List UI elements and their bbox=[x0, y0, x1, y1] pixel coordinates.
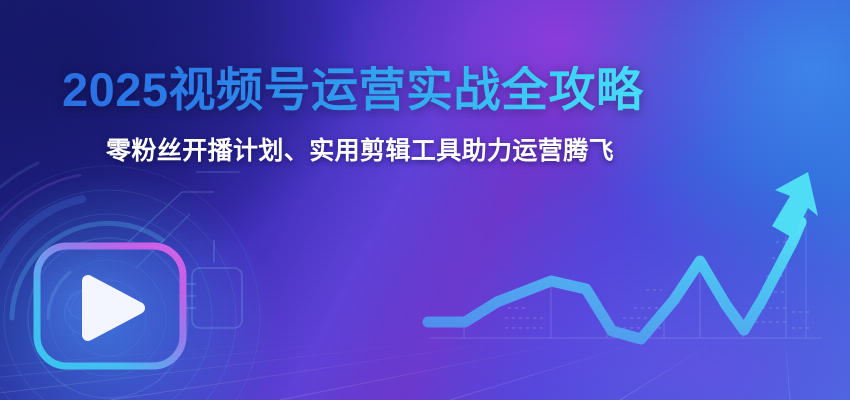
text-block: 2025视频号运营实战全攻略 零粉丝开播计划、实用剪辑工具助力运营腾飞 bbox=[0, 0, 850, 400]
page-subtitle: 零粉丝开播计划、实用剪辑工具助力运营腾飞 bbox=[106, 139, 614, 164]
page-title: 2025视频号运营实战全攻略 bbox=[62, 66, 644, 113]
promo-banner: 2025视频号运营实战全攻略 零粉丝开播计划、实用剪辑工具助力运营腾飞 bbox=[0, 0, 850, 400]
